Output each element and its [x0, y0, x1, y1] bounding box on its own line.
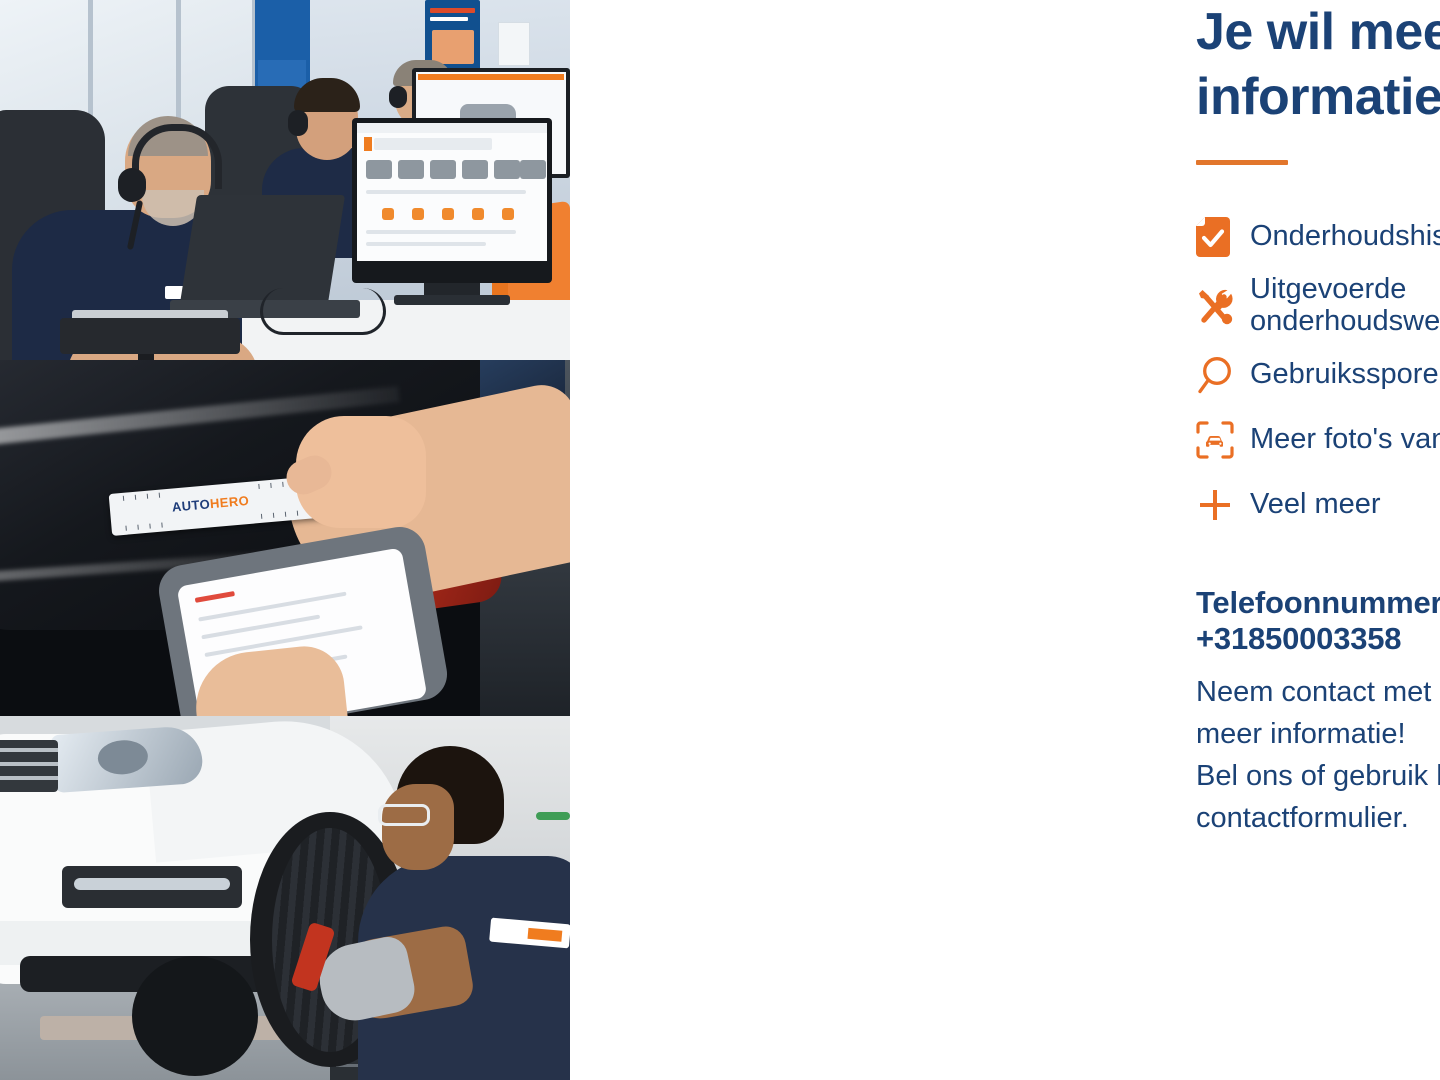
- plus-icon: [1196, 486, 1250, 524]
- chrome-trim: [74, 878, 230, 890]
- feature-item-veel-meer: Veel meer: [1196, 477, 1440, 533]
- wheel-hub: [132, 956, 258, 1076]
- page-title: Je wil meer informatie over:: [1196, 0, 1440, 130]
- call-center-photo: [0, 0, 570, 360]
- radiator-grille: [0, 740, 58, 792]
- cable: [260, 288, 386, 335]
- feature-item-meer-fotos: Meer foto's van de auto: [1196, 412, 1440, 468]
- feature-item-onderhoudswerkzaamheden: Uitgevoerde onderhoudswerkzaamheden: [1196, 274, 1440, 338]
- feature-item-onderhoudshistorie: Onderhoudshistorie: [1196, 209, 1440, 265]
- contact-text: Neem contact met ons op voor meer inform…: [1196, 671, 1440, 839]
- technician: [370, 746, 570, 1080]
- feature-label: Veel meer: [1250, 489, 1381, 521]
- front-monitor: [352, 118, 552, 283]
- inspection-photo: AUTOHERO: [0, 360, 570, 716]
- content-panel: Je wil meer informatie over: Onderhoudsh…: [570, 0, 1440, 1080]
- feature-label: Uitgevoerde onderhoudswerkzaamheden: [1250, 274, 1440, 338]
- tablet-case: [60, 318, 240, 354]
- photo-column: AUTOHERO: [0, 0, 570, 1080]
- feature-item-gebruikssporen: Gebruikssporen: [1196, 347, 1440, 403]
- phone-number: Telefoonnummer: +31850003358: [1196, 585, 1440, 657]
- feature-label: Onderhoudshistorie: [1250, 221, 1440, 253]
- car-scan-icon: [1196, 421, 1250, 459]
- title-divider: [1196, 160, 1288, 165]
- workshop-photo: [0, 716, 570, 1080]
- headline-block: Je wil meer informatie over: Onderhoudsh…: [1196, 0, 1440, 839]
- document-check-icon: [1196, 217, 1250, 257]
- wall-notice: [498, 22, 530, 66]
- promo-page: AUTOHERO: [0, 0, 1440, 1080]
- tools-icon: [1196, 287, 1250, 325]
- feature-label: Gebruikssporen: [1250, 359, 1440, 391]
- feature-label: Meer foto's van de auto: [1250, 424, 1440, 456]
- magnifier-icon: [1196, 356, 1250, 394]
- feature-list: Onderhoudshistorie: [1196, 209, 1440, 533]
- headlight: [50, 725, 204, 793]
